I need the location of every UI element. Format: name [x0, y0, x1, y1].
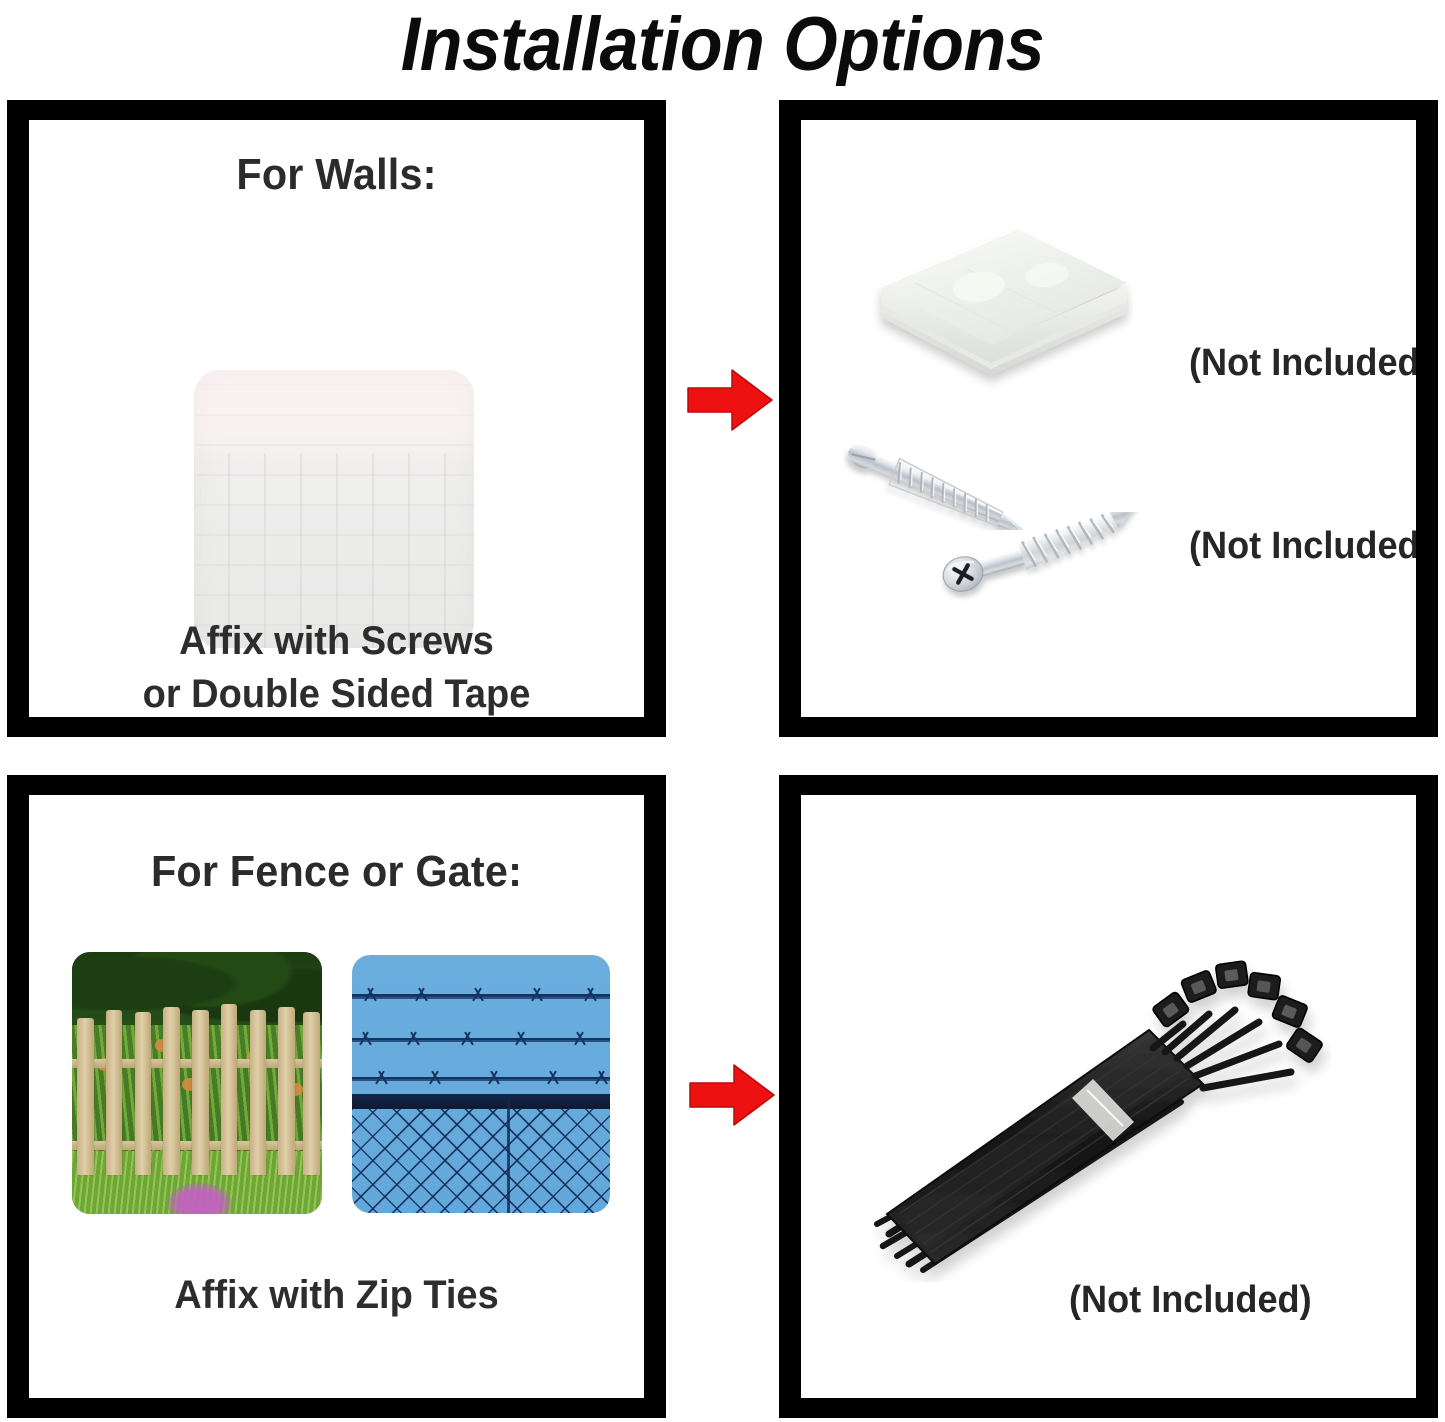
wood-screw-lower: [929, 512, 1169, 602]
for-walls-caption: Affix with Screws or Double Sided Tape: [44, 615, 628, 717]
for-fence-heading: For Fence or Gate:: [47, 847, 625, 897]
panel-fence-hardware-content: (Not Included): [801, 795, 1416, 1398]
panel-wall-hardware-content: (Not Included): [801, 120, 1416, 717]
red-arrow-right-top: [686, 367, 774, 433]
black-zip-ties-bundle: [831, 912, 1331, 1282]
for-fence-caption-line-1: Affix with Zip Ties: [44, 1269, 628, 1322]
wooden-picket-fence-photo: [72, 952, 322, 1214]
red-arrow-right-bottom: [688, 1062, 776, 1128]
for-walls-caption-line-2: or Double Sided Tape: [44, 668, 628, 717]
for-fence-caption: Affix with Zip Ties: [44, 1269, 628, 1322]
panel-for-walls: For Walls: Affix with Screws or Double S…: [7, 100, 666, 737]
panel-for-fence-or-gate: For Fence or Gate:: [7, 775, 666, 1418]
screws-not-included-label: (Not Included): [1189, 525, 1416, 568]
chain-link-barbed-wire-fence-photo: [352, 955, 610, 1213]
page-title: Installation Options: [58, 0, 1387, 90]
panel-for-walls-content: For Walls: Affix with Screws or Double S…: [29, 120, 644, 717]
panel-fence-hardware: (Not Included): [779, 775, 1438, 1418]
white-brick-wall-photo: [194, 370, 474, 648]
for-walls-caption-line-1: Affix with Screws: [44, 615, 628, 668]
panel-wall-hardware: (Not Included): [779, 100, 1438, 737]
zip-ties-not-included-label: (Not Included): [1069, 1279, 1312, 1322]
panel-for-fence-content: For Fence or Gate:: [29, 795, 644, 1398]
double-sided-tape-stack: [871, 225, 1133, 405]
for-walls-heading: For Walls:: [47, 150, 625, 200]
tape-not-included-label: (Not Included): [1189, 342, 1416, 385]
